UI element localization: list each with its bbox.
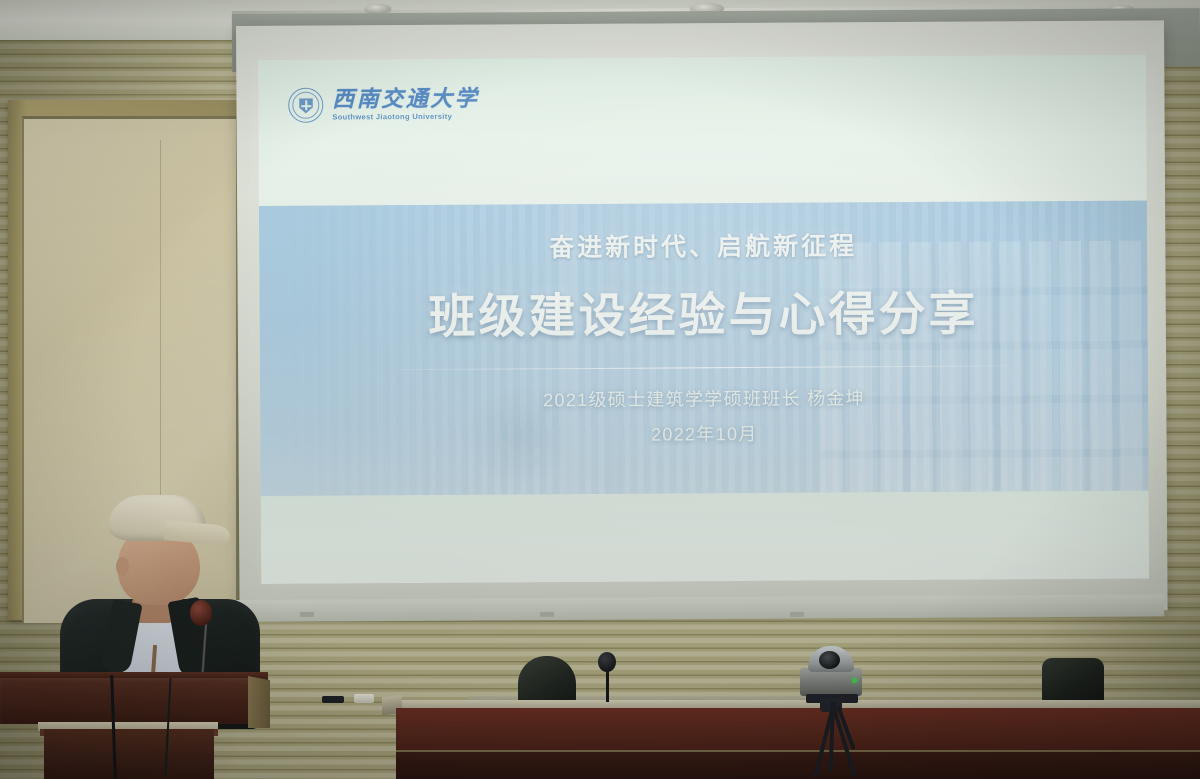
university-seal-icon <box>288 88 323 123</box>
lectern-front-panel <box>0 678 250 724</box>
podium-microphone-icon[interactable] <box>190 600 212 626</box>
desk-microphone-icon[interactable] <box>598 652 616 672</box>
screen-rail-clip <box>540 612 554 617</box>
ptz-video-camera[interactable] <box>786 640 906 779</box>
remote-control-icon[interactable] <box>322 696 344 703</box>
slide-date-line: 2022年10月 <box>260 418 1148 449</box>
logo-text-block: 西南交通大学 Southwest Jiaotong University <box>332 88 479 121</box>
university-logo: 西南交通大学 Southwest Jiaotong University <box>288 87 479 123</box>
projected-slide: 西南交通大学 Southwest Jiaotong University 奋进新… <box>258 55 1149 584</box>
lectern <box>0 672 268 779</box>
slide-bottom-band <box>261 491 1150 584</box>
slide-main-title: 班级建设经验与心得分享 <box>259 274 1147 348</box>
name-card-icon[interactable] <box>354 694 374 703</box>
slide-presenter-line: 2021级硕士建筑学学硕班班长 杨金坤 <box>260 383 1148 414</box>
screen-rail-clip <box>300 612 314 617</box>
seal-bar-glyph <box>301 105 311 107</box>
screen-rail-clip <box>790 612 804 617</box>
camera-lens-icon <box>819 651 840 669</box>
lectern-base <box>44 729 214 779</box>
logo-chinese-name: 西南交通大学 <box>332 88 479 111</box>
lectern-side-panel <box>248 676 270 728</box>
seal-shield-glyph <box>299 98 313 113</box>
camera-status-led <box>852 678 857 683</box>
chair-icon[interactable] <box>518 656 576 702</box>
ceiling-light-icon <box>365 4 391 13</box>
slide-kicker-text: 奋进新时代、启航新征程 <box>259 225 1147 266</box>
logo-english-name: Southwest Jiaotong University <box>332 113 479 121</box>
chair-icon[interactable] <box>1042 658 1104 702</box>
lecture-hall-scene: 西南交通大学 Southwest Jiaotong University 奋进新… <box>0 0 1200 779</box>
slide-top-band <box>258 55 1147 206</box>
presenter-ear <box>116 557 129 576</box>
